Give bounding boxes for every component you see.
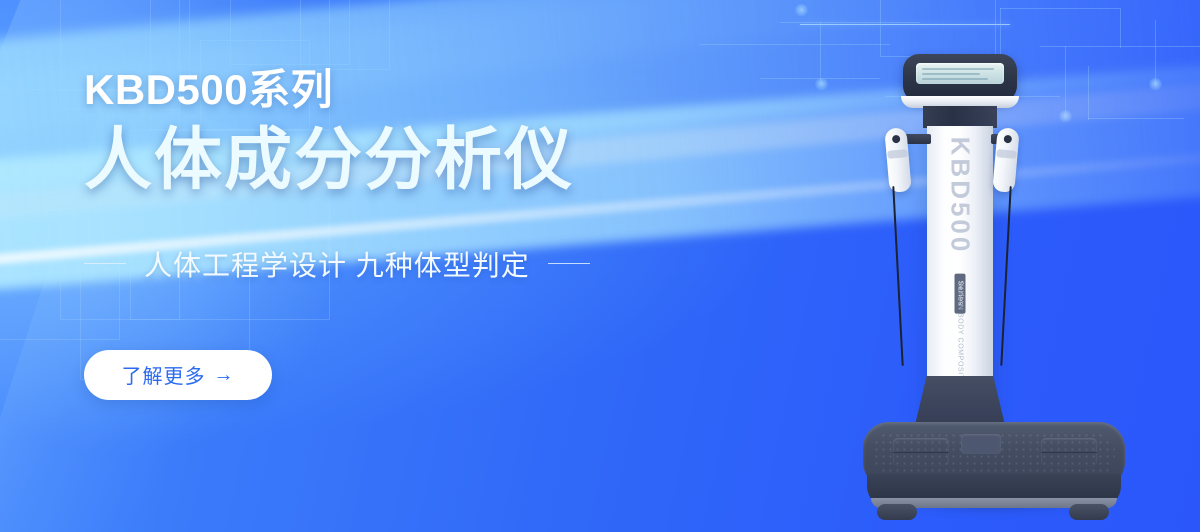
device-foot-right — [1069, 504, 1109, 520]
subtitle-row: 人体工程学设计 九种体型判定 — [84, 244, 654, 284]
device-electrode-pad-left — [893, 438, 949, 466]
subtitle-text: 人体工程学设计 九种体型判定 — [144, 244, 530, 284]
learn-more-button[interactable]: 了解更多 → — [84, 350, 272, 400]
device-neck — [923, 106, 997, 128]
device-cable-right — [1000, 186, 1011, 366]
device-cable-left — [892, 186, 903, 366]
divider-left — [84, 263, 126, 264]
hero-content: KBD500系列 人体成分分析仪 人体工程学设计 九种体型判定 了解更多 → — [84, 68, 704, 400]
device-screen — [916, 63, 1004, 84]
handle-grip-left — [887, 149, 908, 159]
device-electrode-pad-right — [1041, 438, 1097, 466]
divider-right — [548, 263, 590, 264]
handle-button-right — [1003, 135, 1012, 144]
device-foot-left — [877, 504, 917, 520]
handle-grip-right — [996, 149, 1017, 159]
device-display-head — [903, 54, 1017, 102]
device-handle-right — [992, 127, 1019, 193]
device-arm-left — [905, 134, 931, 144]
device-platform-center-plate — [961, 434, 1001, 454]
product-image: KBD500 Series HUMAN BODY COMPOSITION ANA… — [845, 46, 1145, 526]
learn-more-label: 了解更多 — [122, 360, 206, 389]
arrow-right-icon: → — [214, 365, 235, 385]
hero-banner: KBD500系列 人体成分分析仪 人体工程学设计 九种体型判定 了解更多 → K… — [0, 0, 1200, 532]
product-series-label: KBD500系列 — [84, 68, 704, 112]
handle-button-left — [892, 135, 901, 144]
device-brand-label: KBD500 — [945, 137, 976, 255]
page-title: 人体成分分析仪 — [84, 122, 704, 198]
